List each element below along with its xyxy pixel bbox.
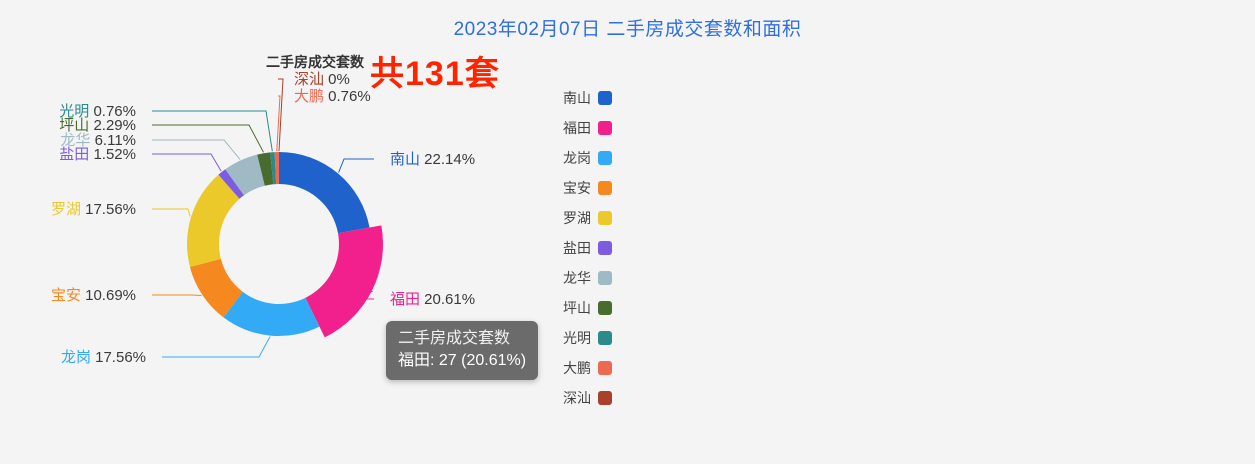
leader-line-龙岗 bbox=[162, 337, 270, 357]
legend-item-count-9[interactable]: 大鹏 bbox=[540, 353, 612, 383]
legend-swatch-icon bbox=[598, 241, 612, 255]
pie-label-龙岗: 龙岗 17.56% bbox=[61, 349, 146, 366]
legend-item-count-8[interactable]: 光明 bbox=[540, 323, 612, 353]
legend-swatch-icon bbox=[598, 181, 612, 195]
tooltip-title: 二手房成交套数 bbox=[398, 328, 526, 350]
legend-item-count-3[interactable]: 宝安 bbox=[540, 173, 612, 203]
leader-line-罗湖 bbox=[152, 209, 190, 216]
legend-item-count-5[interactable]: 盐田 bbox=[540, 233, 612, 263]
tooltip-value: 福田: 27 (20.61%) bbox=[398, 350, 526, 372]
legend-swatch-icon bbox=[598, 331, 612, 345]
legend-item-label: 深汕 bbox=[563, 388, 591, 408]
legend-item-label: 罗湖 bbox=[563, 208, 591, 228]
legend-item-count-0[interactable]: 南山 bbox=[540, 83, 612, 113]
legend-item-label: 光明 bbox=[563, 328, 591, 348]
pie-label-深汕: 深汕 0% bbox=[294, 71, 350, 88]
legend-swatch-icon bbox=[598, 361, 612, 375]
legend-item-label: 坪山 bbox=[563, 298, 591, 318]
pie-label-福田: 福田 20.61% bbox=[390, 291, 475, 308]
donut-svg-count: 南山 22.14%福田 20.61%龙岗 17.56%宝安 10.69%罗湖 1… bbox=[154, 119, 404, 369]
legend-item-count-6[interactable]: 龙华 bbox=[540, 263, 612, 293]
legend-item-count-10[interactable]: 深汕 bbox=[540, 383, 612, 413]
pie-label-罗湖: 罗湖 17.56% bbox=[51, 201, 136, 218]
legend-swatch-icon bbox=[598, 301, 612, 315]
legend-swatch-icon bbox=[598, 211, 612, 225]
pie-label-龙华: 龙华 6.11% bbox=[60, 132, 136, 149]
leader-line-南山 bbox=[339, 159, 374, 173]
legend-swatch-icon bbox=[598, 271, 612, 285]
leader-line-盐田 bbox=[152, 154, 221, 171]
chart-panel-area: 二手房成交面积 南山 22.52%福田 19.25%龙岗 22.86%宝安 7.… bbox=[628, 0, 1255, 464]
legend-item-label: 盐田 bbox=[563, 238, 591, 258]
tooltip: 二手房成交套数 福田: 27 (20.61%) bbox=[386, 321, 538, 380]
pie-label-大鹏: 大鹏 0.76% bbox=[294, 88, 371, 105]
donut-chart-count[interactable]: 南山 22.14%福田 20.61%龙岗 17.56%宝安 10.69%罗湖 1… bbox=[154, 119, 404, 369]
legend-item-label: 龙岗 bbox=[563, 148, 591, 168]
leader-line-光明 bbox=[152, 111, 272, 151]
legend-swatch-icon bbox=[598, 391, 612, 405]
legend-item-label: 龙华 bbox=[563, 268, 591, 288]
legend-item-count-1[interactable]: 福田 bbox=[540, 113, 612, 143]
legend-item-count-7[interactable]: 坪山 bbox=[540, 293, 612, 323]
legend-count[interactable]: 南山福田龙岗宝安罗湖盐田龙华坪山光明大鹏深汕 bbox=[540, 83, 612, 413]
legend-item-count-4[interactable]: 罗湖 bbox=[540, 203, 612, 233]
legend-swatch-icon bbox=[598, 151, 612, 165]
legend-item-label: 大鹏 bbox=[563, 358, 591, 378]
pie-slice-福田[interactable] bbox=[305, 225, 383, 337]
pie-slice-南山[interactable] bbox=[279, 152, 370, 233]
legend-swatch-icon bbox=[598, 91, 612, 105]
pie-label-宝安: 宝安 10.69% bbox=[51, 287, 136, 304]
pie-label-光明: 光明 0.76% bbox=[59, 103, 136, 120]
legend-item-label: 南山 bbox=[563, 88, 591, 108]
leader-line-龙华 bbox=[152, 140, 240, 160]
leader-line-宝安 bbox=[152, 295, 202, 296]
legend-item-label: 宝安 bbox=[563, 178, 591, 198]
legend-swatch-icon bbox=[598, 121, 612, 135]
legend-item-count-2[interactable]: 龙岗 bbox=[540, 143, 612, 173]
chart-subtitle-count: 二手房成交套数 bbox=[266, 52, 364, 72]
legend-item-label: 福田 bbox=[563, 118, 591, 138]
total-count-badge: 共131套 bbox=[370, 46, 500, 95]
pie-label-南山: 南山 22.14% bbox=[390, 151, 475, 168]
pie-slice-龙岗[interactable] bbox=[223, 292, 319, 336]
leader-line-坪山 bbox=[152, 125, 264, 152]
chart-panel-count: 二手房成交套数 共131套 南山 22.14%福田 20.61%龙岗 17.56… bbox=[0, 0, 628, 464]
